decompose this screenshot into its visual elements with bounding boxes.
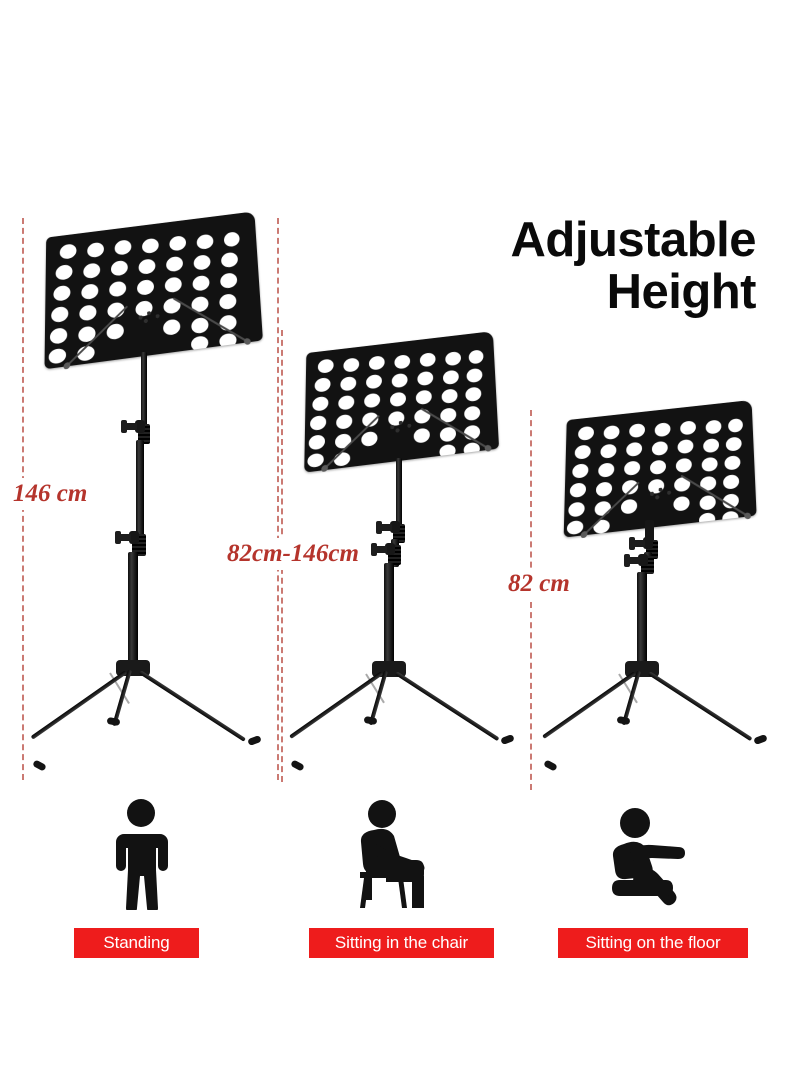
height-adjust-knob-upper[interactable] <box>390 521 400 533</box>
page-title: Adjustable Height <box>336 215 756 319</box>
usage-badge-standing[interactable]: Standing <box>74 928 199 958</box>
stand-desk-panel <box>304 331 499 472</box>
height-adjust-knob-lower[interactable] <box>385 543 395 555</box>
page-title-line-1: Adjustable <box>336 215 756 267</box>
height-adjust-knob-upper[interactable] <box>643 537 653 549</box>
tripod-foot-back <box>363 716 377 725</box>
tripod-leg-right <box>395 671 499 741</box>
usage-badge-sitting-chair[interactable]: Sitting in the chair <box>309 928 494 958</box>
height-adjust-knob-lower[interactable] <box>638 554 648 566</box>
knob-handle-upper[interactable] <box>379 524 392 531</box>
tripod-leg-left <box>289 671 383 739</box>
usage-badge-sitting-floor[interactable]: Sitting on the floor <box>558 928 748 958</box>
tripod-leg-left <box>542 671 636 739</box>
knob-handle-upper[interactable] <box>632 540 645 547</box>
page-title-line-2: Height <box>336 267 756 319</box>
guide-line-right-stand3 <box>530 410 532 790</box>
stand-lower-shaft <box>637 572 647 672</box>
dimension-label-min-height: 82 cm <box>503 568 575 600</box>
tripod-foot-left <box>543 759 558 771</box>
knob-handle-lower[interactable] <box>627 557 640 564</box>
standing-person-icon <box>106 798 176 910</box>
sitting-floor-person-icon <box>608 806 700 910</box>
desk-perforations <box>564 400 757 538</box>
tripod-foot-right <box>500 734 515 745</box>
knob-handle-lower[interactable] <box>374 546 387 553</box>
infographic-canvas: Adjustable Height 146 cm 82cm-146cm 82 c… <box>0 0 800 1092</box>
stand-upper-shaft <box>396 458 402 530</box>
tripod-foot-right <box>753 734 768 745</box>
stand-desk-panel <box>564 400 757 538</box>
music-stand-short <box>0 0 300 800</box>
sitting-chair-person-icon <box>352 798 438 910</box>
desk-perforations <box>304 331 499 472</box>
stand-lower-shaft <box>384 563 394 673</box>
tripod-foot-back <box>616 716 630 725</box>
tripod-leg-right <box>648 671 752 741</box>
